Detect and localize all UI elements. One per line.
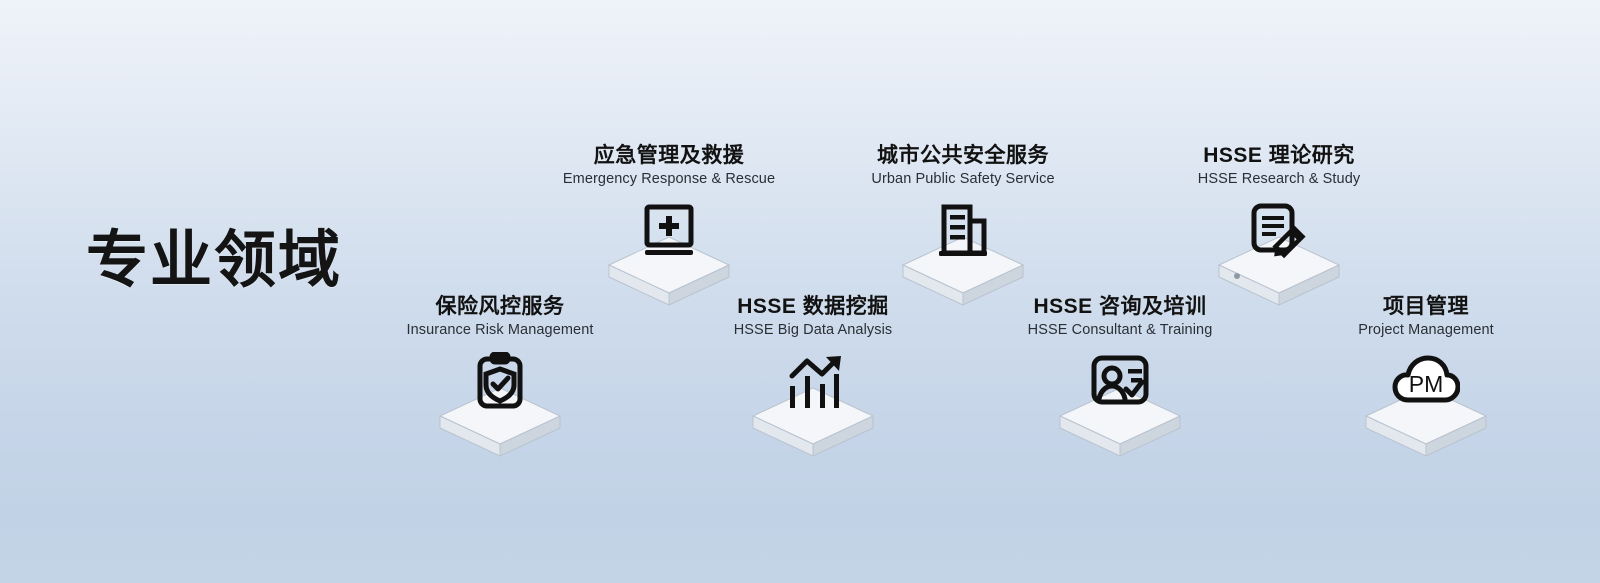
field-label-cn-consultant: HSSE 咨询及培训 (990, 295, 1250, 319)
cloud-pm-icon: PM (1392, 352, 1460, 418)
field-item-project[interactable]: 项目管理 Project Management PM (1296, 295, 1556, 462)
first-aid-monitor-icon (637, 201, 701, 265)
field-label-cn-bigdata: HSSE 数据挖掘 (683, 295, 943, 319)
field-label-en-insurance: Insurance Risk Management (370, 322, 630, 339)
field-item-emergency[interactable]: 应急管理及救援 Emergency Response & Rescue (539, 144, 799, 311)
field-item-research[interactable]: HSSE 理论研究 HSSE Research & Study (1149, 144, 1409, 311)
field-label-en-emergency: Emergency Response & Rescue (539, 171, 799, 188)
field-label-cn-urban: 城市公共安全服务 (833, 144, 1093, 168)
field-item-bigdata[interactable]: HSSE 数据挖掘 HSSE Big Data Analysis (683, 295, 943, 462)
field-item-consultant[interactable]: HSSE 咨询及培训 HSSE Consultant & Training (990, 295, 1250, 462)
field-label-cn-project: 项目管理 (1296, 295, 1556, 319)
cloud-pm-label: PM (1409, 371, 1444, 397)
clipboard-shield-check-icon (468, 352, 532, 416)
field-podium-consultant (990, 352, 1250, 462)
field-label-en-research: HSSE Research & Study (1149, 171, 1409, 188)
field-label-cn-research: HSSE 理论研究 (1149, 144, 1409, 168)
field-item-urban[interactable]: 城市公共安全服务 Urban Public Safety Service (833, 144, 1093, 311)
field-label-cn-insurance: 保险风控服务 (370, 295, 630, 319)
person-id-card-check-icon (1088, 352, 1152, 416)
field-label-cn-emergency: 应急管理及救援 (539, 144, 799, 168)
page-title: 专业领域 (86, 228, 342, 293)
field-podium-project: PM (1296, 352, 1556, 462)
professional-fields-banner: 专业领域 应急管理及救援 Emergency Response & Rescue (0, 0, 1600, 583)
field-podium-insurance (370, 352, 630, 462)
field-label-en-bigdata: HSSE Big Data Analysis (683, 322, 943, 339)
field-label-en-consultant: HSSE Consultant & Training (990, 322, 1250, 339)
field-label-en-project: Project Management (1296, 322, 1556, 339)
city-buildings-icon (931, 201, 995, 265)
document-pencil-icon (1245, 201, 1313, 267)
field-item-insurance[interactable]: 保险风控服务 Insurance Risk Management (370, 295, 630, 462)
bar-chart-trend-arrow-icon (781, 352, 845, 416)
field-label-en-urban: Urban Public Safety Service (833, 171, 1093, 188)
field-podium-bigdata (683, 352, 943, 462)
